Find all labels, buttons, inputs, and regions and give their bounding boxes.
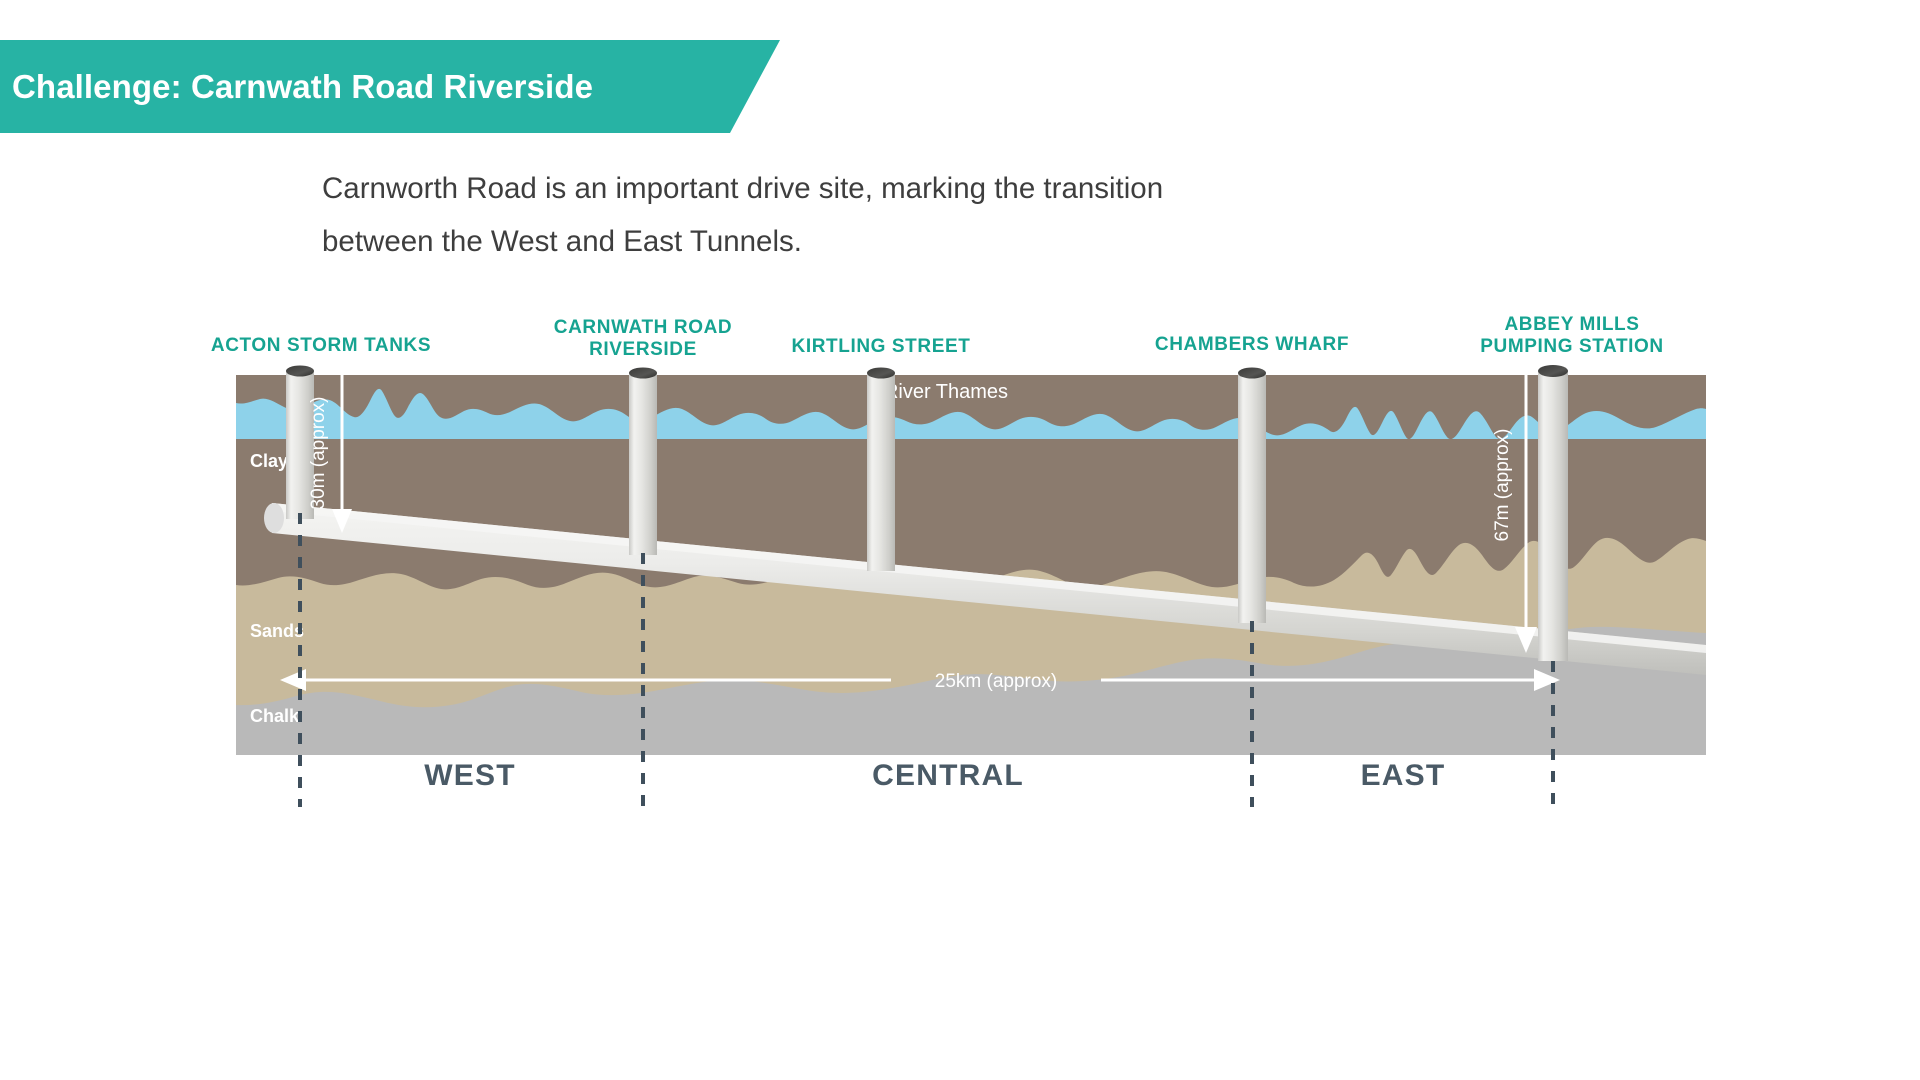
shaft-abbey-mills-pumping-station bbox=[1538, 365, 1568, 661]
shaft-label-carnwath-road: CARNWATH ROAD bbox=[554, 317, 732, 338]
layer-label-clay: Clay bbox=[250, 451, 288, 471]
shaft-label-chambers-wharf: CHAMBERS WHARF bbox=[1155, 334, 1349, 355]
shaft-label-carnwath-road-line2: RIVERSIDE bbox=[589, 339, 697, 360]
river-thames-label: River Thames bbox=[884, 381, 1008, 403]
shaft-chambers-wharf bbox=[1238, 368, 1266, 624]
section-label-west: WEST bbox=[424, 759, 515, 792]
section-labels: WEST CENTRAL EAST bbox=[424, 759, 1445, 792]
horizontal-measure-25km-label: 25km (approx) bbox=[935, 671, 1058, 692]
shaft-kirtling-street bbox=[867, 368, 895, 572]
shaft-label-abbey-mills-line2: PUMPING STATION bbox=[1480, 336, 1664, 357]
page-title: Challenge: Carnwath Road Riverside bbox=[0, 68, 593, 106]
section-label-east: EAST bbox=[1361, 759, 1446, 792]
shaft-carnwath-road-riverside bbox=[629, 368, 657, 556]
layer-label-chalk: Chalk bbox=[250, 706, 300, 726]
shaft-labels: ACTON STORM TANKS CARNWATH ROAD RIVERSID… bbox=[211, 314, 1664, 360]
intro-line-1: Carnworth Road is an important drive sit… bbox=[322, 162, 1502, 215]
tunnel-cross-section-diagram: ACTON STORM TANKS CARNWATH ROAD RIVERSID… bbox=[236, 375, 1706, 1005]
layer-label-sands: Sands bbox=[250, 621, 304, 641]
title-banner: Challenge: Carnwath Road Riverside bbox=[0, 40, 780, 133]
intro-line-2: between the West and East Tunnels. bbox=[322, 215, 1502, 268]
shaft-label-kirtling-street: KIRTLING STREET bbox=[792, 336, 971, 357]
depth-measure-30m-label: 30m (approx) bbox=[308, 397, 329, 510]
geology-block: Clay Sands Chalk River Thames bbox=[236, 375, 1706, 755]
shaft-label-abbey-mills: ABBEY MILLS bbox=[1504, 314, 1639, 335]
depth-measure-67m-label: 67m (approx) bbox=[1492, 429, 1513, 542]
intro-paragraph: Carnworth Road is an important drive sit… bbox=[322, 162, 1502, 268]
shaft-label-acton-storm-tanks: ACTON STORM TANKS bbox=[211, 335, 431, 356]
section-label-central: CENTRAL bbox=[872, 759, 1024, 792]
